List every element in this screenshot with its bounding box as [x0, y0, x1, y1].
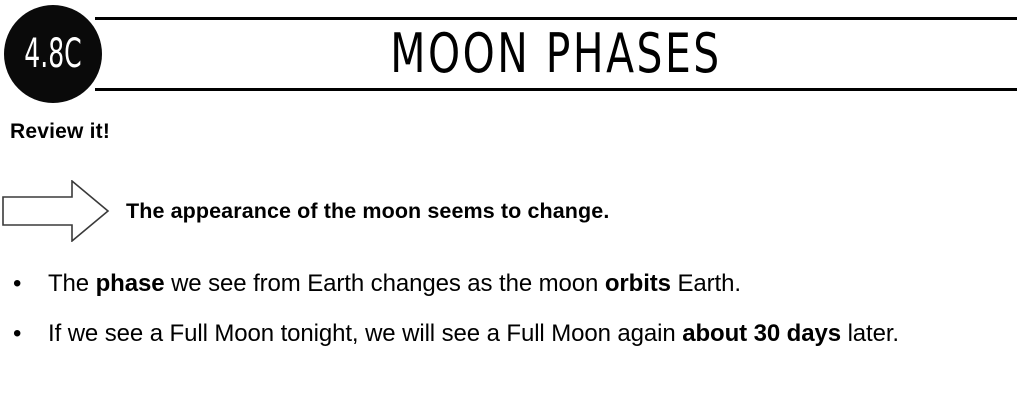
list-item-text: The phase we see from Earth changes as t…	[48, 270, 741, 297]
standard-code-label: 4.8C	[24, 34, 81, 74]
page-title: MOON PHASES	[169, 17, 943, 91]
callout-row: The appearance of the moon seems to chan…	[0, 180, 1019, 242]
callout-text: The appearance of the moon seems to chan…	[126, 180, 609, 242]
bullet-list: • The phase we see from Earth changes as…	[0, 268, 1019, 368]
list-item: • The phase we see from Earth changes as…	[0, 268, 1019, 300]
right-arrow-icon	[2, 180, 110, 242]
bullet-marker: •	[13, 268, 21, 300]
bullet-marker: •	[13, 318, 21, 350]
review-heading: Review it!	[10, 121, 110, 142]
list-item: • If we see a Full Moon tonight, we will…	[0, 318, 1019, 350]
page-header: MOON PHASES 4.8C	[0, 0, 1019, 108]
standard-code-badge: 4.8C	[4, 5, 102, 103]
list-item-text: If we see a Full Moon tonight, we will s…	[48, 320, 899, 347]
